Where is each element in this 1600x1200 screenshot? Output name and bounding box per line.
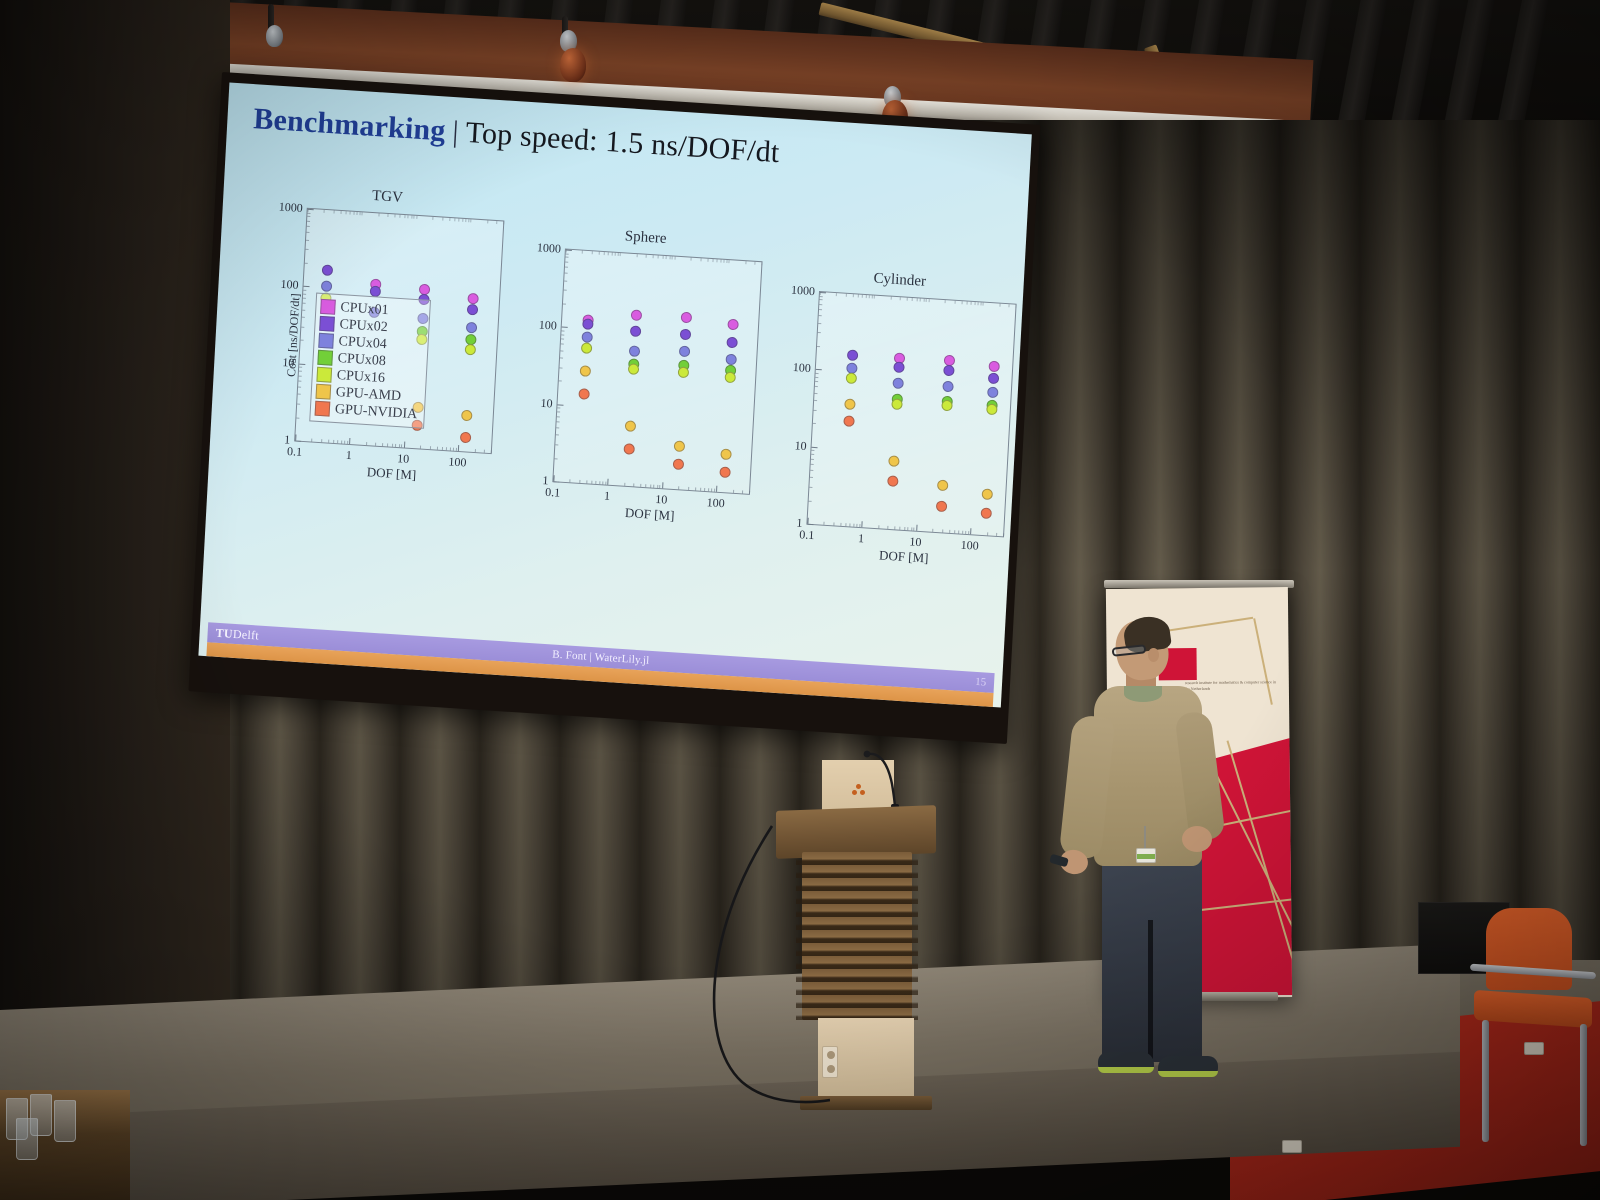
x-top-tick [357, 212, 358, 215]
y-tick-label: 100 [538, 318, 557, 334]
x-top-tick [974, 302, 975, 305]
x-minor-tick [695, 487, 696, 490]
data-point [986, 404, 998, 416]
x-top-tick [761, 262, 762, 265]
y-minor-tick [811, 458, 814, 459]
x-minor-tick [602, 481, 603, 484]
y-minor-tick [561, 339, 564, 340]
y-tick-mark [295, 440, 301, 441]
x-minor-tick [1003, 533, 1004, 536]
y-minor-tick [305, 249, 308, 250]
y-minor-tick [565, 267, 568, 268]
y-minor-tick [561, 334, 564, 335]
x-top-tick [916, 298, 917, 301]
y-minor-tick [818, 323, 821, 324]
x-minor-tick [850, 523, 851, 526]
x-top-tick [462, 219, 463, 222]
y-minor-tick [307, 221, 310, 222]
x-top-tick [926, 299, 927, 302]
y-minor-tick [296, 417, 299, 418]
x-minor-tick [678, 486, 679, 489]
y-tick-label: 10 [540, 395, 553, 411]
drinking-glass [54, 1100, 76, 1142]
x-top-tick [333, 210, 334, 213]
y-minor-tick [814, 400, 817, 401]
x-top-tick [852, 294, 853, 297]
data-point [581, 343, 593, 355]
y-tick-label: 1000 [537, 240, 562, 257]
x-minor-tick [987, 532, 988, 535]
x-top-tick [866, 295, 867, 298]
legend-label: GPU-NVIDIA [334, 401, 417, 422]
x-top-tick [487, 220, 488, 223]
x-minor-tick [491, 450, 492, 453]
x-minor-tick [321, 439, 322, 442]
x-minor-tick [962, 531, 963, 534]
data-point [320, 280, 332, 292]
y-tick-label: 100 [792, 360, 811, 376]
x-minor-tick [840, 523, 841, 526]
y-minor-tick [564, 290, 567, 291]
y-minor-tick [303, 293, 306, 294]
x-minor-tick [932, 529, 933, 532]
x-top-tick [359, 212, 360, 215]
y-minor-tick [298, 380, 301, 381]
x-minor-tick [911, 527, 912, 530]
data-point [681, 311, 693, 323]
y-minor-tick [555, 444, 558, 445]
x-tick-label: 0.1 [799, 527, 815, 543]
x-top-tick [971, 302, 972, 305]
x-minor-tick [430, 446, 431, 449]
data-point [843, 415, 855, 427]
x-top-tick [324, 210, 325, 213]
x-minor-tick [634, 483, 635, 486]
x-top-tick [869, 295, 870, 298]
data-point [981, 508, 993, 520]
x-top-tick [388, 214, 389, 217]
x-minor-tick [420, 446, 421, 449]
x-tick-label: 100 [706, 495, 725, 511]
data-points-layer [553, 250, 761, 494]
data-points-layer [807, 292, 1015, 536]
x-top-tick [458, 219, 459, 222]
y-minor-tick [820, 296, 823, 297]
x-minor-tick [347, 441, 348, 444]
x-minor-tick [474, 449, 475, 452]
data-point [467, 304, 479, 316]
chair-leg [1580, 1024, 1587, 1146]
y-minor-tick [560, 350, 563, 351]
data-point [679, 346, 691, 358]
y-minor-tick [559, 367, 562, 368]
y-minor-tick [556, 427, 559, 428]
y-minor-tick [557, 411, 560, 412]
data-point [989, 360, 1001, 372]
conference-room-photo: Benchmarking|Top speed: 1.5 ns/DOF/dt TG… [0, 0, 1600, 1200]
y-minor-tick [560, 357, 563, 358]
data-point [942, 380, 954, 392]
slide-title-main: Benchmarking [253, 102, 447, 147]
x-minor-tick [401, 444, 402, 447]
x-top-tick [662, 256, 663, 259]
x-top-tick [726, 260, 727, 263]
x-top-tick [646, 255, 647, 258]
x-minor-tick [742, 490, 743, 493]
x-top-tick [416, 216, 417, 219]
x-top-tick [755, 262, 756, 265]
data-point [888, 456, 900, 468]
data-point [941, 400, 953, 412]
x-minor-tick [366, 442, 367, 445]
x-minor-tick [399, 444, 400, 447]
x-minor-tick [579, 480, 580, 483]
legend-swatch-icon [317, 350, 333, 366]
x-top-tick [999, 304, 1000, 307]
x-minor-tick [341, 440, 342, 443]
x-minor-tick [888, 526, 889, 529]
x-top-tick [404, 215, 405, 218]
data-point [460, 432, 472, 444]
presenter-leg-gap [1148, 920, 1153, 1062]
x-top-tick [923, 299, 924, 302]
chart-cylinder: Cylinder 11010010000.1110100 DOF [M] [760, 266, 1024, 582]
x-minor-tick [450, 447, 451, 450]
y-minor-tick [299, 367, 302, 368]
x-tick-label: 1 [858, 531, 865, 546]
x-top-tick [592, 251, 593, 254]
plot-area: 11010010000.1110100 [806, 291, 1016, 537]
x-top-tick [862, 295, 863, 298]
x-minor-tick [591, 481, 592, 484]
x-minor-tick [328, 440, 329, 443]
x-top-tick [346, 211, 347, 214]
y-minor-tick [302, 317, 305, 318]
x-top-tick [1009, 304, 1010, 307]
legend-label: CPUx16 [336, 368, 385, 387]
chart-sphere: Sphere 11010010000.1110100 DOF [M] [506, 224, 770, 540]
y-minor-tick [564, 280, 567, 281]
x-top-tick [449, 218, 450, 221]
x-top-tick [496, 221, 497, 224]
x-minor-tick [958, 530, 959, 533]
x-tick-label: 0.1 [545, 485, 561, 501]
x-top-tick [454, 218, 455, 221]
presenter-collar [1124, 686, 1162, 702]
chair-seat [1474, 990, 1592, 1028]
legend-label: CPUx08 [337, 351, 386, 370]
x-minor-tick [436, 447, 437, 450]
y-minor-tick [307, 226, 310, 227]
x-top-tick [618, 253, 619, 256]
y-minor-tick [555, 458, 558, 459]
x-top-tick [612, 253, 613, 256]
data-point [892, 399, 904, 411]
x-minor-tick [688, 487, 689, 490]
y-minor-tick [301, 326, 304, 327]
y-minor-tick [814, 410, 817, 411]
y-minor-tick [565, 257, 568, 258]
x-top-tick [604, 252, 605, 255]
slide-title: Benchmarking|Top speed: 1.5 ns/DOF/dt [253, 102, 781, 170]
x-top-tick [691, 258, 692, 261]
x-top-tick [945, 300, 946, 303]
data-point [725, 371, 737, 383]
charts-row: TGV Cost [ns/DOF/dt] 11010010000.1110100… [206, 162, 1027, 563]
legend-label: CPUx02 [339, 317, 388, 336]
legend-swatch-icon [316, 367, 332, 383]
x-top-tick [669, 256, 670, 259]
x-top-tick [729, 260, 730, 263]
x-tick-label: 10 [397, 451, 410, 467]
y-minor-tick [299, 371, 302, 372]
x-top-tick [920, 299, 921, 302]
data-point [465, 344, 477, 356]
spotlight-silver-1 [266, 25, 283, 47]
data-point [630, 326, 642, 338]
legend-label: CPUx01 [340, 300, 389, 319]
x-top-tick [820, 292, 821, 295]
x-top-tick [340, 211, 341, 214]
x-top-tick [465, 219, 466, 222]
chair-leg [1482, 1020, 1489, 1142]
x-top-tick [503, 221, 504, 224]
x-top-tick [1015, 305, 1016, 308]
chair-backrest [1486, 908, 1572, 990]
x-top-tick [745, 261, 746, 264]
data-point [887, 475, 899, 487]
tudelft-logo: TUDelft [215, 625, 259, 643]
y-minor-tick [298, 394, 301, 395]
x-top-tick [672, 256, 673, 259]
x-tick-label: 0.1 [287, 444, 303, 460]
x-top-tick [980, 302, 981, 305]
x-top-tick [977, 302, 978, 305]
y-minor-tick [299, 375, 302, 376]
x-tick-label: 1 [345, 448, 352, 463]
chart-tgv: TGV Cost [ns/DOF/dt] 11010010000.1110100… [248, 183, 512, 499]
x-minor-tick [659, 485, 660, 488]
y-minor-tick [301, 340, 304, 341]
x-top-tick [707, 259, 708, 262]
x-minor-tick [650, 484, 651, 487]
y-minor-tick [818, 332, 821, 333]
x-top-tick [928, 299, 929, 302]
y-minor-tick [819, 315, 822, 316]
x-top-tick [395, 214, 396, 217]
y-minor-tick [556, 435, 559, 436]
y-minor-tick [557, 408, 560, 409]
x-minor-tick [646, 484, 647, 487]
y-minor-tick [565, 262, 568, 263]
y-minor-tick [305, 263, 308, 264]
data-point [625, 420, 637, 432]
x-top-tick [400, 215, 401, 218]
y-minor-tick [810, 477, 813, 478]
x-minor-tick [456, 448, 457, 451]
spotlight-warm-1 [560, 48, 586, 82]
y-minor-tick [306, 232, 309, 233]
x-minor-tick [914, 528, 915, 531]
data-point [728, 318, 740, 330]
x-top-tick [900, 297, 901, 300]
x-top-tick [872, 295, 873, 298]
x-minor-tick [654, 485, 655, 488]
x-top-tick [582, 251, 583, 254]
x-top-tick [846, 294, 847, 297]
y-minor-tick [819, 304, 822, 305]
x-minor-tick [949, 530, 950, 533]
x-top-tick [408, 215, 409, 218]
x-top-tick [700, 258, 701, 261]
x-top-tick [966, 302, 967, 305]
x-top-tick [433, 217, 434, 220]
data-point [674, 440, 686, 452]
x-minor-tick [344, 441, 345, 444]
y-minor-tick [817, 346, 820, 347]
x-top-tick [907, 298, 908, 301]
x-top-tick [353, 212, 354, 215]
data-point [578, 389, 590, 401]
x-minor-tick [954, 530, 955, 533]
y-minor-tick [809, 500, 812, 501]
x-minor-tick [446, 447, 447, 450]
projection-screen: Benchmarking|Top speed: 1.5 ns/DOF/dt TG… [188, 72, 1040, 744]
x-top-tick [468, 219, 469, 222]
presenter-sole-left [1098, 1067, 1154, 1073]
x-tick-label: 10 [909, 534, 922, 550]
y-minor-tick [815, 381, 818, 382]
legend-label: CPUx04 [338, 334, 387, 353]
x-minor-tick [700, 488, 701, 491]
x-top-tick [890, 297, 891, 300]
x-top-tick [674, 257, 675, 260]
x-minor-tick [333, 440, 334, 443]
y-minor-tick [307, 212, 310, 213]
x-minor-tick [570, 479, 571, 482]
x-minor-tick [900, 527, 901, 530]
plot-area: 11010010000.1110100 [552, 248, 762, 494]
y-minor-tick [561, 330, 564, 331]
data-point [844, 398, 856, 410]
y-minor-tick [306, 240, 309, 241]
x-minor-tick [824, 522, 825, 525]
x-top-tick [411, 215, 412, 218]
x-top-tick [954, 301, 955, 304]
slide-page-number: 15 [975, 676, 987, 689]
x-minor-tick [711, 488, 712, 491]
x-minor-tick [894, 526, 895, 529]
x-top-tick [615, 253, 616, 256]
orange-chair[interactable] [1468, 908, 1600, 1158]
x-minor-tick [392, 444, 393, 447]
y-minor-tick [566, 253, 569, 254]
y-minor-tick [816, 373, 819, 374]
x-top-tick [598, 252, 599, 255]
x-minor-tick [878, 525, 879, 528]
y-minor-tick [813, 423, 816, 424]
y-minor-tick [302, 309, 305, 310]
name-badge-stripe [1137, 854, 1155, 859]
x-minor-tick [599, 481, 600, 484]
presenter-hand-right [1182, 826, 1212, 852]
x-minor-tick [453, 448, 454, 451]
y-minor-tick [815, 377, 818, 378]
y-minor-tick [297, 404, 300, 405]
x-top-tick [983, 303, 984, 306]
y-minor-tick [814, 392, 817, 393]
x-top-tick [836, 293, 837, 296]
legend-swatch-icon [319, 316, 335, 332]
wall-socket [1282, 1140, 1302, 1153]
x-top-tick [658, 256, 659, 259]
x-top-tick [608, 252, 609, 255]
x-minor-tick [904, 527, 905, 530]
y-tick-label: 10 [282, 355, 295, 371]
x-top-tick [653, 255, 654, 258]
data-point [987, 387, 999, 399]
data-point [845, 372, 857, 384]
x-minor-tick [749, 491, 750, 494]
y-tick-mark [807, 524, 813, 525]
legend-swatch-icon [315, 401, 331, 417]
y-minor-tick [811, 464, 814, 465]
data-point [846, 349, 858, 361]
x-top-tick [350, 212, 351, 215]
x-minor-tick [605, 482, 606, 485]
y-minor-tick [563, 304, 566, 305]
x-minor-tick [856, 524, 857, 527]
x-minor-tick [853, 524, 854, 527]
y-tick-label: 1000 [791, 283, 816, 300]
y-minor-tick [811, 454, 814, 455]
data-point [624, 443, 636, 455]
x-minor-tick [382, 443, 383, 446]
presenter [1040, 620, 1260, 1090]
x-minor-tick [708, 488, 709, 491]
x-minor-tick [395, 444, 396, 447]
x-top-tick [308, 209, 309, 212]
x-top-tick [874, 296, 875, 299]
chart-legend: CPUx01CPUx02CPUx04CPUx08CPUx16GPU-AMDGPU… [309, 293, 431, 429]
x-minor-tick [965, 531, 966, 534]
data-point [678, 366, 690, 378]
data-point [631, 309, 643, 321]
x-minor-tick [845, 523, 846, 526]
data-point [466, 322, 478, 334]
presenter-sole-right [1158, 1071, 1218, 1077]
x-minor-tick [596, 481, 597, 484]
y-minor-tick [565, 273, 568, 274]
y-minor-tick [559, 381, 562, 382]
x-minor-tick [312, 439, 313, 442]
data-point [628, 363, 640, 375]
y-minor-tick [298, 386, 301, 387]
y-minor-tick [810, 470, 813, 471]
legend-swatch-icon [320, 299, 336, 315]
data-point [581, 331, 593, 343]
microphone-cable [690, 820, 830, 1120]
y-tick-label: 100 [280, 277, 299, 293]
curtain-left-dark [0, 0, 230, 1080]
data-point [982, 488, 994, 500]
y-minor-tick [820, 300, 823, 301]
x-tick-label: 100 [960, 538, 979, 554]
x-minor-tick [968, 531, 969, 534]
data-point [893, 377, 905, 389]
data-point [680, 329, 692, 341]
data-point [894, 361, 906, 373]
